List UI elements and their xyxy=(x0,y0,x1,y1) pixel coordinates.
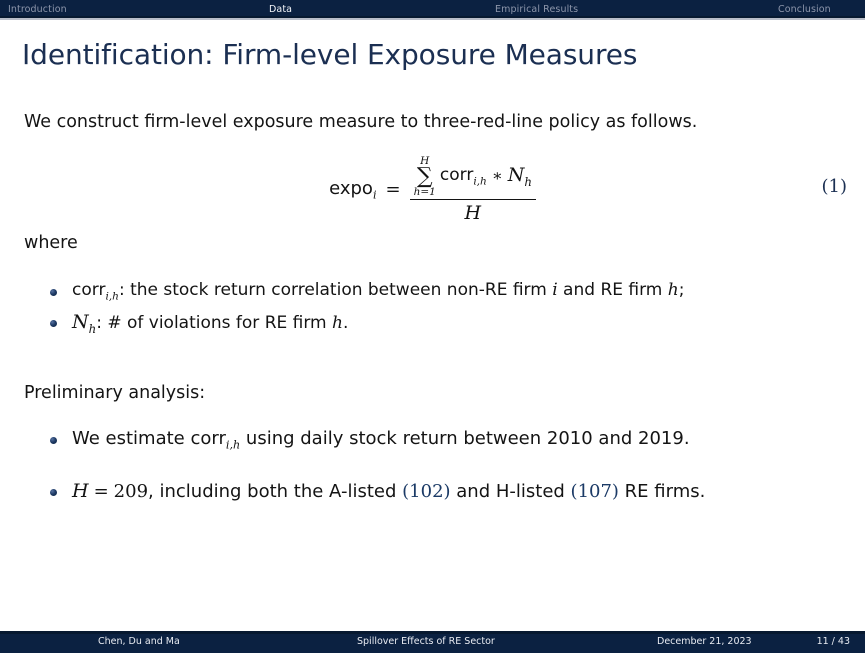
list-item: corri,h: the stock return correlation be… xyxy=(48,280,684,302)
analysis-value: 209 xyxy=(114,481,148,502)
bullet-dot-icon xyxy=(50,289,57,296)
nav-item-data[interactable]: Data xyxy=(269,4,292,15)
sum-sigma-icon: ∑ xyxy=(417,167,433,188)
analysis-equals-sign: = xyxy=(94,481,109,502)
footer-date: December 21, 2023 xyxy=(657,636,752,647)
analysis-list: We estimate corri,h using daily stock re… xyxy=(48,428,705,530)
definition-symbol: corri,h xyxy=(72,280,119,300)
bullet-dot-icon xyxy=(50,489,57,496)
numerator-n-term: Nh xyxy=(508,164,532,189)
footer-page-number: 11 / 43 xyxy=(817,636,850,647)
navbar-divider xyxy=(0,18,865,20)
nav-item-introduction[interactable]: Introduction xyxy=(8,4,67,15)
definition-text-b: . xyxy=(343,313,348,333)
sum-lower-limit: h=1 xyxy=(414,187,436,198)
where-label: where xyxy=(24,233,78,253)
definition-text-a: : the stock return correlation between n… xyxy=(119,280,552,300)
list-item: We estimate corri,h using daily stock re… xyxy=(48,428,705,452)
nav-item-conclusion[interactable]: Conclusion xyxy=(778,4,831,15)
preliminary-analysis-label: Preliminary analysis: xyxy=(24,383,205,403)
analysis-text-a: We estimate xyxy=(72,428,190,449)
definitions-list: corri,h: the stock return correlation be… xyxy=(48,280,684,345)
bullet-dot-icon xyxy=(50,437,57,444)
summation-operator: H ∑ h=1 xyxy=(414,156,436,198)
slide-title: Identification: Firm-level Exposure Meas… xyxy=(22,38,637,71)
footer-presentation-title: Spillover Effects of RE Sector xyxy=(357,636,495,647)
definition-var-b: h xyxy=(668,280,679,300)
definition-symbol: Nh xyxy=(72,311,96,333)
nav-item-empirical-results[interactable]: Empirical Results xyxy=(495,4,578,15)
definition-text-b: and RE firm xyxy=(558,280,668,300)
definition-var-a: h xyxy=(332,313,343,333)
numerator-operator: ∗ xyxy=(492,166,503,185)
definition-text-a: : # of violations for RE firm xyxy=(96,313,332,333)
top-navigation-bar: Introduction Data Empirical Results Conc… xyxy=(0,0,865,18)
equation-lhs: expoi xyxy=(329,178,376,202)
analysis-text-a: , including both the A-listed xyxy=(148,481,402,502)
numerator-corr-term: corri,h xyxy=(440,165,487,187)
analysis-text-b: using daily stock return between 2010 an… xyxy=(240,428,689,449)
equation-fraction: H ∑ h=1 corri,h ∗ Nh H xyxy=(410,155,536,224)
analysis-symbol: corri,h xyxy=(190,428,240,449)
analysis-link-h-listed-count[interactable]: (107) xyxy=(571,481,619,502)
fraction-denominator: H xyxy=(460,200,485,224)
fraction-numerator: H ∑ h=1 corri,h ∗ Nh xyxy=(410,155,536,199)
list-item: H=209, including both the A-listed (102)… xyxy=(48,480,705,502)
list-item: Nh: # of violations for RE firm h. xyxy=(48,311,684,336)
equation-number: (1) xyxy=(822,176,848,197)
footer-authors: Chen, Du and Ma xyxy=(98,636,180,647)
analysis-text-b: and H-listed xyxy=(451,481,571,502)
analysis-variable-h: H xyxy=(72,480,89,502)
analysis-link-a-listed-count[interactable]: (102) xyxy=(402,481,450,502)
bullet-dot-icon xyxy=(50,320,57,327)
display-equation: expoi = H ∑ h=1 corri,h ∗ Nh H xyxy=(0,155,865,224)
definition-text-c: ; xyxy=(679,280,685,300)
intro-paragraph: We construct firm-level exposure measure… xyxy=(24,112,697,132)
slide-footer: Chen, Du and Ma Spillover Effects of RE … xyxy=(0,631,865,653)
analysis-text-c: RE firms. xyxy=(619,481,705,502)
equation-equals-sign: = xyxy=(386,179,401,200)
